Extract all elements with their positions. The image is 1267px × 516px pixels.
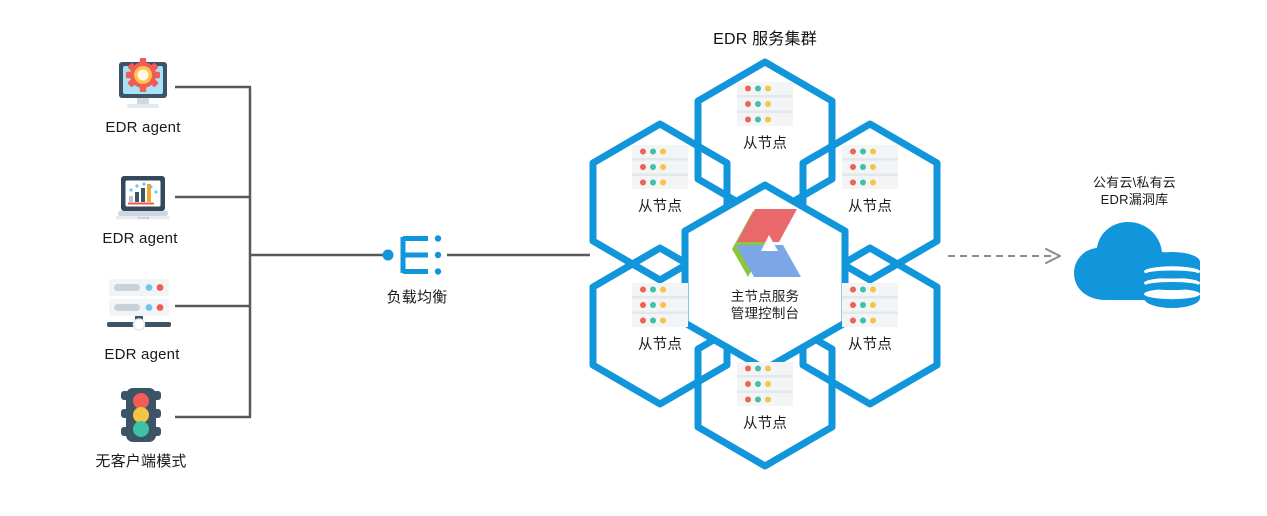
traffic-light-icon — [112, 385, 170, 445]
client-label-3: 无客户端模式 — [71, 452, 211, 471]
client-label-1: EDR agent — [70, 229, 210, 248]
server-stack-icon-upper-right — [842, 145, 898, 189]
master-node-label-line2: 管理控制台 — [705, 305, 825, 322]
server-rack-icon — [104, 275, 180, 331]
cloud-label-line2: EDR漏洞库 — [1062, 191, 1207, 208]
laptop-chart-icon — [113, 170, 173, 226]
node-label-upper-left: 从节点 — [610, 198, 710, 216]
node-label-lower-right: 从节点 — [820, 336, 920, 354]
node-label-upper-right: 从节点 — [820, 198, 920, 216]
server-stack-icon-upper-left — [632, 145, 688, 189]
cloud-label-line1: 公有云\私有云 — [1062, 174, 1207, 191]
load-balancer-icon — [381, 228, 453, 284]
cluster-title: EDR 服务集群 — [665, 30, 865, 49]
load-balancer-label: 负载均衡 — [347, 288, 487, 307]
node-label-lower-left: 从节点 — [610, 336, 710, 354]
node-label-bottom: 从节点 — [715, 415, 815, 433]
server-stack-icon-lower-left — [632, 283, 688, 327]
node-label-top: 从节点 — [715, 135, 815, 153]
diagram-canvas: EDR agent — [0, 0, 1267, 516]
server-stack-icon-bottom — [737, 362, 793, 406]
server-stack-icon-top — [737, 82, 793, 126]
server-stack-icon-lower-right — [842, 283, 898, 327]
master-node-label-line1: 主节点服务 — [705, 288, 825, 305]
client-label-0: EDR agent — [73, 118, 213, 137]
client-label-2: EDR agent — [72, 345, 212, 364]
cloud-database-icon — [1068, 218, 1208, 308]
console-cube-icon — [715, 205, 815, 283]
monitor-gear-icon — [113, 54, 173, 112]
